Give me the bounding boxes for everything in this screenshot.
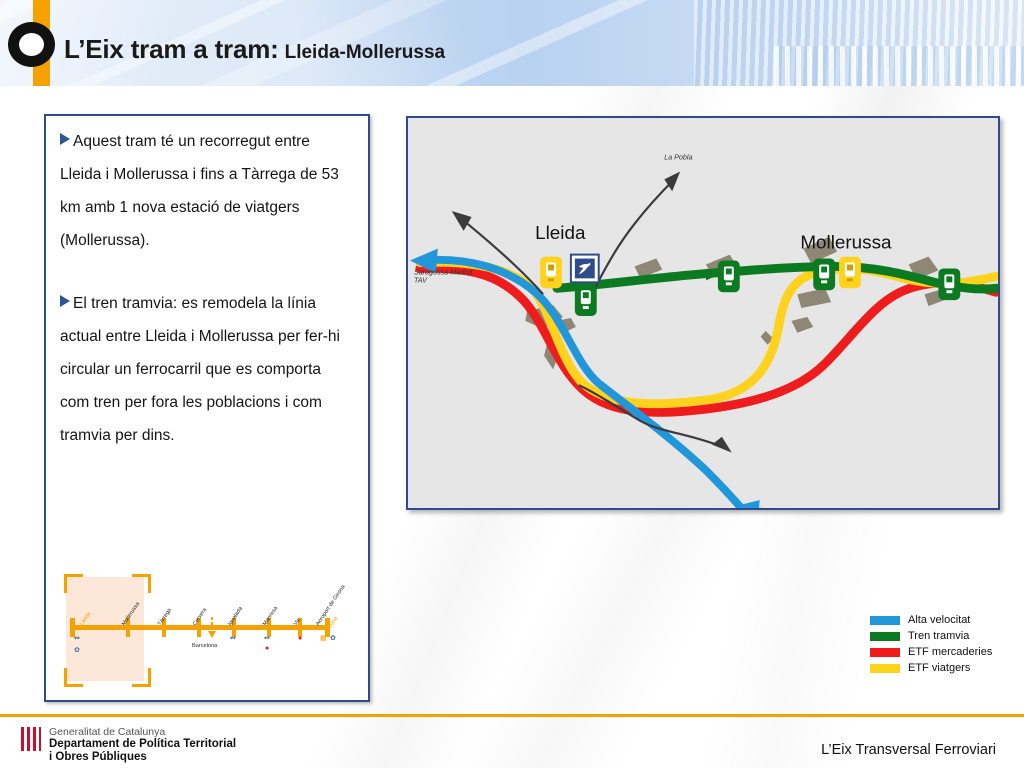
ring-logo-icon: [8, 22, 55, 67]
red-dot-icon: ●: [298, 635, 302, 642]
station-marker-lleida-green: [575, 284, 597, 316]
footer-project-title: L’Eix Transversal Ferroviari: [821, 742, 996, 758]
bullet-paragraph-2: El tren tramvia: es remodela la línia ac…: [46, 257, 368, 452]
legend-swatch-icon: [870, 632, 900, 641]
triangle-bullet-icon: [60, 295, 70, 307]
mini-corner-bracket: [132, 668, 151, 687]
legend-item-tren-tramvia: Tren tramvia: [870, 628, 992, 644]
station-marker-mollerussa-yellow: [839, 257, 861, 289]
mini-branch-arrow-icon: [208, 631, 216, 638]
legend-item-etf-mercaderies: ETF mercaderies: [870, 644, 992, 660]
airplane-icon: ✿: [74, 647, 80, 654]
footer-org-line1: Generalitat de Catalunya: [49, 726, 236, 738]
station-marker-mid-green: [718, 261, 740, 293]
legend-label: Tren tramvia: [908, 630, 969, 642]
mini-corner-bracket: [132, 574, 151, 593]
legend-swatch-icon: [870, 616, 900, 625]
rail-arrow-icon: [452, 211, 472, 231]
station-marker-mollerussa-green: [813, 259, 835, 291]
legend-label: ETF mercaderies: [908, 646, 992, 658]
line-etf-mercaderies: [420, 268, 996, 412]
rail-arrow-icon: [712, 437, 732, 453]
map-annotation-la-pobla: La Pobla: [664, 154, 692, 162]
map-annotation-saragossa-madrid: Saragossa-Madrid: [414, 268, 473, 276]
map-annotation-saragossa-madrid-tav: TAV: [414, 276, 428, 284]
map-legend: Alta velocitat Tren tramvia ETF mercader…: [870, 612, 992, 676]
page-title: L’Eix tram a tram:Lleida-Mollerussa: [64, 34, 445, 65]
grid-icon: ▦: [320, 635, 327, 642]
rodalies-icon: ∾: [230, 635, 236, 642]
mini-branch-label: Barcelona: [192, 643, 217, 649]
footer-rule: [0, 714, 1024, 717]
mini-corridor-schematic: Lleida Mollerussa Tàrrega Cervera Iguala…: [62, 571, 354, 689]
footer-organization-logo: Generalitat de Catalunya Departament de …: [20, 726, 236, 764]
senyera-flag-icon: [20, 726, 42, 752]
footer-org-line2: Departament de Política Territorial: [49, 738, 236, 751]
bullet-paragraph-1: Aquest tram té un recorregut entre Lleid…: [46, 116, 368, 257]
legend-item-etf-viatgers: ETF viatgers: [870, 660, 992, 676]
page-title-sub: Lleida-Mollerussa: [285, 42, 446, 63]
mini-corner-bracket: [64, 574, 83, 593]
legend-label: Alta velocitat: [908, 614, 970, 626]
railway-corridor-map: Lleida Mollerussa La Pobla Saragossa-Mad…: [408, 118, 998, 508]
bullet-paragraph-1-text: Aquest tram té un recorregut entre Lleid…: [60, 133, 339, 249]
map-city-label-lleida: Lleida: [535, 222, 586, 243]
red-dot-icon: ●: [265, 645, 269, 652]
map-annotation-barcelona: Barcelona: [742, 507, 774, 508]
bullet-paragraph-2-text: El tren tramvia: es remodela la línia ac…: [60, 295, 340, 444]
rodalies-icon: ∾: [74, 635, 80, 642]
mini-corner-bracket: [64, 668, 83, 687]
station-marker-east-green: [938, 268, 960, 300]
legend-item-alta-velocitat: Alta velocitat: [870, 612, 992, 628]
text-panel: Aquest tram té un recorregut entre Lleid…: [44, 114, 370, 702]
page-title-main: L’Eix tram a tram:: [64, 34, 279, 64]
fgc-logo-icon: [571, 255, 599, 283]
legend-swatch-icon: [870, 648, 900, 657]
header-texture-bars: [774, 46, 1024, 86]
footer-organization-text: Generalitat de Catalunya Departament de …: [49, 726, 236, 764]
airplane-icon: ✿: [330, 635, 336, 642]
station-marker-lleida-yellow: [540, 257, 562, 289]
rodalies-icon: ∾: [264, 635, 270, 642]
map-city-label-mollerussa: Mollerussa: [800, 232, 892, 253]
legend-swatch-icon: [870, 664, 900, 673]
map-panel: Lleida Mollerussa La Pobla Saragossa-Mad…: [406, 116, 1000, 510]
footer-org-line3: i Obres Públiques: [49, 751, 236, 764]
legend-label: ETF viatgers: [908, 662, 970, 674]
triangle-bullet-icon: [60, 133, 70, 145]
